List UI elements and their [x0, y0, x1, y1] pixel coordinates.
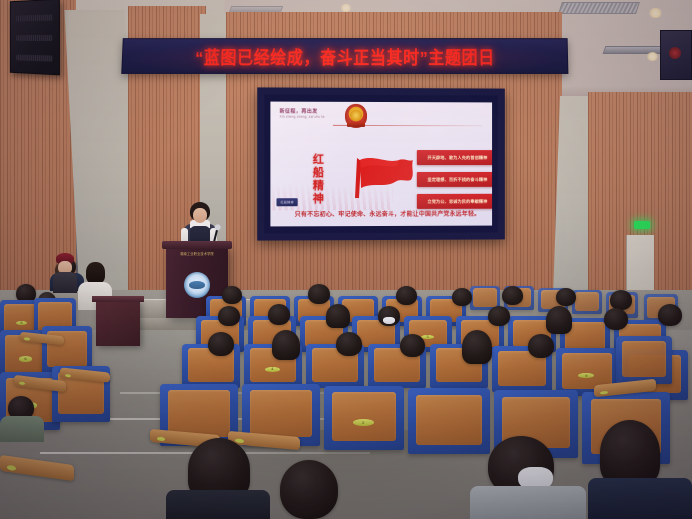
loudspeaker-icon	[10, 0, 60, 75]
audience-figure-red-hat	[52, 253, 78, 293]
exit-sign-icon	[634, 221, 650, 229]
ceiling-air-vent-1	[558, 2, 640, 14]
audience-shoulders-f1	[166, 490, 270, 519]
vertical-char-1: 红	[311, 154, 326, 167]
face-mask-icon	[383, 317, 396, 324]
audience-head-d8	[658, 304, 682, 326]
audience-shoulders-f3	[588, 478, 692, 519]
audience-head-d2	[268, 304, 290, 325]
audience-head-c6	[556, 288, 576, 306]
presenter-face	[193, 208, 207, 223]
audience-shoulders-f2	[470, 486, 586, 519]
slide-point-3: 立党为公、忠诚为民的奉献精神	[417, 194, 492, 209]
ceiling-downlight-4	[340, 4, 352, 12]
slide-point-1: 开天辟地、敢为人先的首创精神	[417, 150, 492, 165]
seat-c-r4-3[interactable]: 2	[324, 386, 404, 450]
audience-head-c3	[396, 286, 417, 305]
audience-head-e3	[336, 332, 362, 356]
ceiling-downlight-3	[646, 52, 659, 61]
audience-head-e6	[528, 334, 554, 358]
vertical-char-2: 船	[311, 167, 326, 180]
seat-number-plaque: 6	[19, 356, 33, 362]
seat-number-plaque: 4	[265, 367, 280, 372]
slide-footer: 只有不忘初心、牢记使命、永远奋斗，才能让中国共产党永远年轻。	[270, 211, 492, 221]
seat-c-r4-4[interactable]	[408, 388, 490, 454]
podium-top	[162, 241, 232, 249]
auditorium-photo: “蓝图已经绘成，奋斗正当其时”主题团日 新征程，再出发 Xin zheng ch…	[0, 0, 692, 519]
slide-point-2: 坚定理想、百折不挠的奋斗精神	[417, 172, 492, 187]
slide-point-list: 开天辟地、敢为人先的首创精神 坚定理想、百折不挠的奋斗精神 立党为公、忠诚为民的…	[417, 150, 492, 209]
seat-number-plaque: 3	[421, 335, 433, 339]
side-desk	[96, 300, 140, 346]
presentation-slide: 新征程，再出发 Xin zheng cheng, zai chu fa 红 船 …	[270, 102, 492, 227]
wall-speaker-right-icon	[660, 30, 692, 80]
audience-head-c4	[452, 288, 472, 306]
audience-head-c7	[610, 290, 632, 310]
audience-head-c5	[502, 286, 523, 305]
audience-head-e5	[462, 330, 492, 364]
audience-shoulders-l5	[0, 416, 44, 442]
projection-screen: 新征程，再出发 Xin zheng cheng, zai chu fa 红 船 …	[257, 87, 505, 240]
audience-head-d7	[604, 308, 628, 330]
audience-head-f3	[600, 420, 660, 486]
audience-head-d5	[488, 306, 510, 326]
side-desk-top	[92, 296, 144, 302]
audience-head-f4	[280, 460, 338, 519]
seat-far-4[interactable]	[572, 290, 602, 314]
audience-head-e4	[400, 334, 425, 357]
slide-footer-chip: 红船精神	[276, 198, 297, 206]
seat-right-fg-1[interactable]	[616, 336, 672, 384]
audience-head-e1	[208, 332, 234, 356]
slide-header-en: Xin zheng cheng, zai chu fa	[280, 115, 325, 119]
audience-head-c1	[222, 286, 242, 304]
event-banner: “蓝图已经绘成，奋斗正当其时”主题团日	[121, 38, 568, 74]
ceiling-air-vent-2	[603, 46, 668, 54]
emblem-base	[347, 122, 365, 127]
audience-head-c2	[308, 284, 330, 304]
slide-footer-text: 只有不忘初心、牢记使命、永远奋斗，才能让中国共产党永远年轻。	[283, 211, 493, 221]
audience-head-d3	[326, 304, 350, 328]
podium-title-text: 湖南工业职业技术学院	[172, 251, 222, 256]
ceiling-downlight-2	[648, 8, 663, 18]
audience-head-d1	[218, 306, 240, 326]
school-crest-logo-icon	[184, 272, 210, 298]
event-banner-text: “蓝图已经绘成，奋斗正当其时”主题团日	[195, 43, 495, 70]
audience-head-d4	[378, 306, 400, 326]
audience-head-e2	[272, 330, 300, 360]
slide-watermark-graphic	[272, 184, 393, 210]
audience-head-d6	[546, 306, 572, 334]
